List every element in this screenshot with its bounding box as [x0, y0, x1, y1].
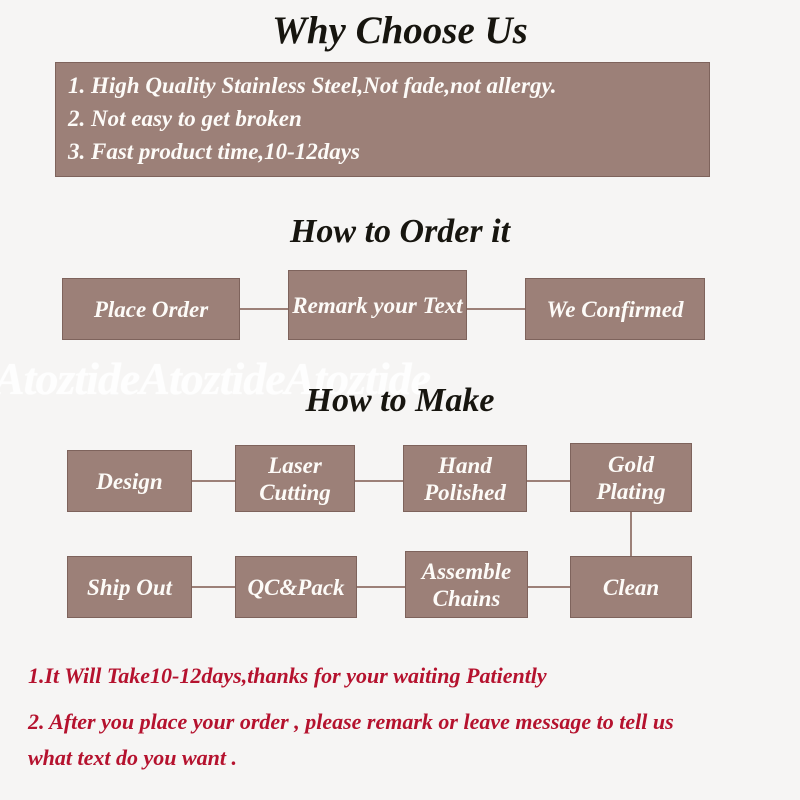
- footer-notes: 1.It Will Take10-12days,thanks for your …: [28, 658, 772, 786]
- make-connector-3: [527, 480, 570, 482]
- why-choose-us-title: Why Choose Us: [0, 8, 800, 53]
- how-to-make-title: How to Make: [0, 382, 800, 420]
- order-step-place-order: Place Order: [62, 278, 240, 340]
- make-step-laser-cutting: Laser Cutting: [235, 445, 355, 512]
- make-step-ship-out: Ship Out: [67, 556, 192, 618]
- how-to-order-title: How to Order it: [0, 213, 800, 251]
- make-step-qc-and-pack: QC&Pack: [235, 556, 357, 618]
- order-connector-1: [240, 308, 288, 310]
- make-step-design: Design: [67, 450, 192, 512]
- make-step-assemble-chains: Assemble Chains: [405, 551, 528, 618]
- infographic-page: AtoztideAtoztideAtoztide Why Choose Us 1…: [0, 0, 800, 800]
- make-step-gold-plating: Gold Plating: [570, 443, 692, 512]
- footer-note-2: 2. After you place your order , please r…: [28, 704, 688, 776]
- why-choose-us-item-1: 1. High Quality Stainless Steel,Not fade…: [68, 69, 709, 102]
- make-connector-4: [192, 586, 235, 588]
- make-step-hand-polished: Hand Polished: [403, 445, 527, 512]
- make-connector-2: [355, 480, 403, 482]
- make-connector-1: [192, 480, 235, 482]
- make-connector-6: [528, 586, 570, 588]
- make-step-clean: Clean: [570, 556, 692, 618]
- footer-note-1: 1.It Will Take10-12days,thanks for your …: [28, 658, 772, 694]
- order-step-we-confirmed: We Confirmed: [525, 278, 705, 340]
- make-connector-vertical: [630, 512, 632, 556]
- order-connector-2: [467, 308, 525, 310]
- why-choose-us-panel: 1. High Quality Stainless Steel,Not fade…: [55, 62, 710, 177]
- order-step-remark-your-text: Remark your Text: [288, 270, 467, 340]
- why-choose-us-list: 1. High Quality Stainless Steel,Not fade…: [56, 63, 709, 168]
- why-choose-us-item-2: 2. Not easy to get broken: [68, 102, 709, 135]
- why-choose-us-item-3: 3. Fast product time,10-12days: [68, 135, 709, 168]
- make-connector-5: [357, 586, 405, 588]
